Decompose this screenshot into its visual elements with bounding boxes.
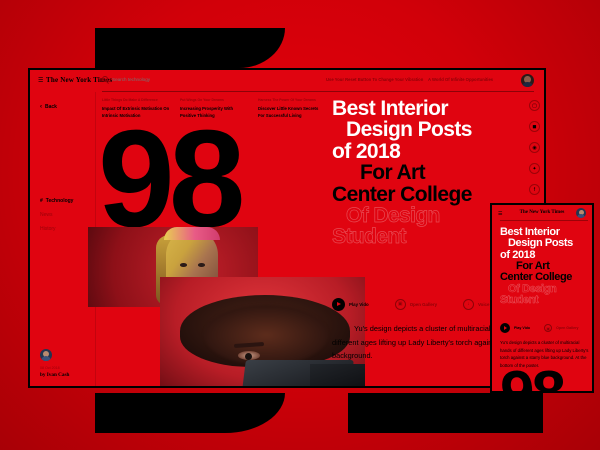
background-shape-top [95,28,285,68]
facebook-icon[interactable]: f [529,184,540,195]
photo-headband [164,227,220,240]
play-icon [500,323,510,333]
hamburger-icon[interactable]: ☰ [38,79,43,84]
gallery-icon: ▣ [395,299,406,310]
mobile-big-number: 98 [500,363,563,393]
desktop-mockup: ☰ The New York Times Use Your Reset Butt… [28,68,546,388]
photo-eye-right [198,263,205,267]
play-icon [332,298,345,311]
microphone-glyph: ↓ [467,302,470,307]
instagram-glyph: ▢ [532,103,537,109]
gallery-glyph: ▣ [398,302,403,307]
play-video-button[interactable]: Play Vido [332,298,369,311]
photo-pupil [245,353,252,360]
twitter-glyph: ✦ [532,166,536,172]
header-divider [500,220,588,221]
site-header: ☰ The New York Times Use Your Reset Butt… [30,70,544,92]
facebook-glyph: f [534,187,535,193]
headline-line-2: Design Posts [332,119,532,140]
headline-line-5: Center College [500,272,594,283]
mobile-header: ☰ The New York Times [492,205,592,221]
photo-eye-left [180,263,187,267]
author-block: 08 Oct 2018 by Ivan Cash [40,349,69,378]
author-name: by Ivan Cash [40,372,69,378]
headline-line-4: For Art [332,162,532,183]
headline-line-2: Design Posts [500,238,594,249]
sidebar-item-history[interactable]: History [40,226,73,232]
mobile-page-title: Best Interior Design Posts of 2018 For A… [500,227,594,306]
teaser-kicker: Harness The Power Of Your Dreams [258,98,326,103]
behance-icon[interactable]: ◼ [529,121,540,132]
background-shape-bottom-right [348,393,543,433]
open-gallery-label: Open Gallery [410,302,437,307]
teaser-title: Discover Little Known Secrets For Succes… [258,106,326,119]
sidebar-nav: # Technology News History [40,198,73,240]
sidebar: ‹ Back # Technology News History 08 Oct … [30,92,96,388]
play-video-label: Play Vido [349,302,369,307]
microphone-icon: ↓ [463,299,474,310]
background-shape-bottom-left [95,393,285,433]
avatar[interactable] [576,208,586,218]
mobile-action-bar: Play Vido ▣ Open Gallery [500,323,579,333]
headline-line-1: Best Interior [332,98,532,119]
headline-line-7: Student [500,295,594,306]
action-bar: Play Vido ▣ Open Gallery ↓ Voice Reading [332,298,508,311]
search-icon [102,76,108,82]
twitter-icon[interactable]: ✦ [529,163,540,174]
photo-device-secondary [310,364,365,388]
open-gallery-button[interactable]: ▣ Open Gallery [544,324,578,332]
teaser-item[interactable]: Harness The Power Of Your Dreams Discove… [258,98,326,119]
open-gallery-button[interactable]: ▣ Open Gallery [395,299,437,310]
headline-line-5: Center College [332,184,532,205]
publish-date: 08 Oct 2018 [40,366,69,370]
behance-glyph: ◼ [532,124,536,130]
headline-line-3: of 2018 [332,141,532,162]
dribbble-glyph: ◉ [532,145,536,151]
instagram-icon[interactable]: ▢ [529,100,540,111]
header-divider [102,91,534,92]
sidebar-item-technology[interactable]: # Technology [40,198,73,204]
search-bar[interactable] [102,76,232,82]
avatar[interactable] [521,74,534,87]
mobile-mockup: ☰ The New York Times Best Interior Desig… [490,203,594,393]
search-input[interactable] [112,77,232,82]
sidebar-item-label: News [40,212,53,218]
back-button[interactable]: ‹ Back [40,104,57,110]
sidebar-item-label: Technology [46,198,74,204]
social-rail: ▢ ◼ ◉ ✦ f [529,100,540,195]
chevron-left-icon: ‹ [40,105,42,110]
header-link-1[interactable]: Use Your Reset Button To Change Your Vib… [326,77,423,82]
open-gallery-label: Open Gallery [556,326,578,330]
sidebar-item-news[interactable]: News [40,212,73,218]
header-link-2[interactable]: A World Of Infinite Opportunities [428,77,493,82]
gallery-glyph: ▣ [546,326,550,331]
hash-icon: # [40,198,43,204]
sidebar-item-label: History [40,226,56,232]
dribbble-icon[interactable]: ◉ [529,142,540,153]
play-video-label: Play Vido [514,326,530,330]
play-video-button[interactable]: Play Vido [500,323,530,333]
gallery-icon: ▣ [544,324,552,332]
photo-hair-highlight [204,305,328,365]
back-button-label: Back [45,104,57,110]
author-avatar [40,349,52,361]
